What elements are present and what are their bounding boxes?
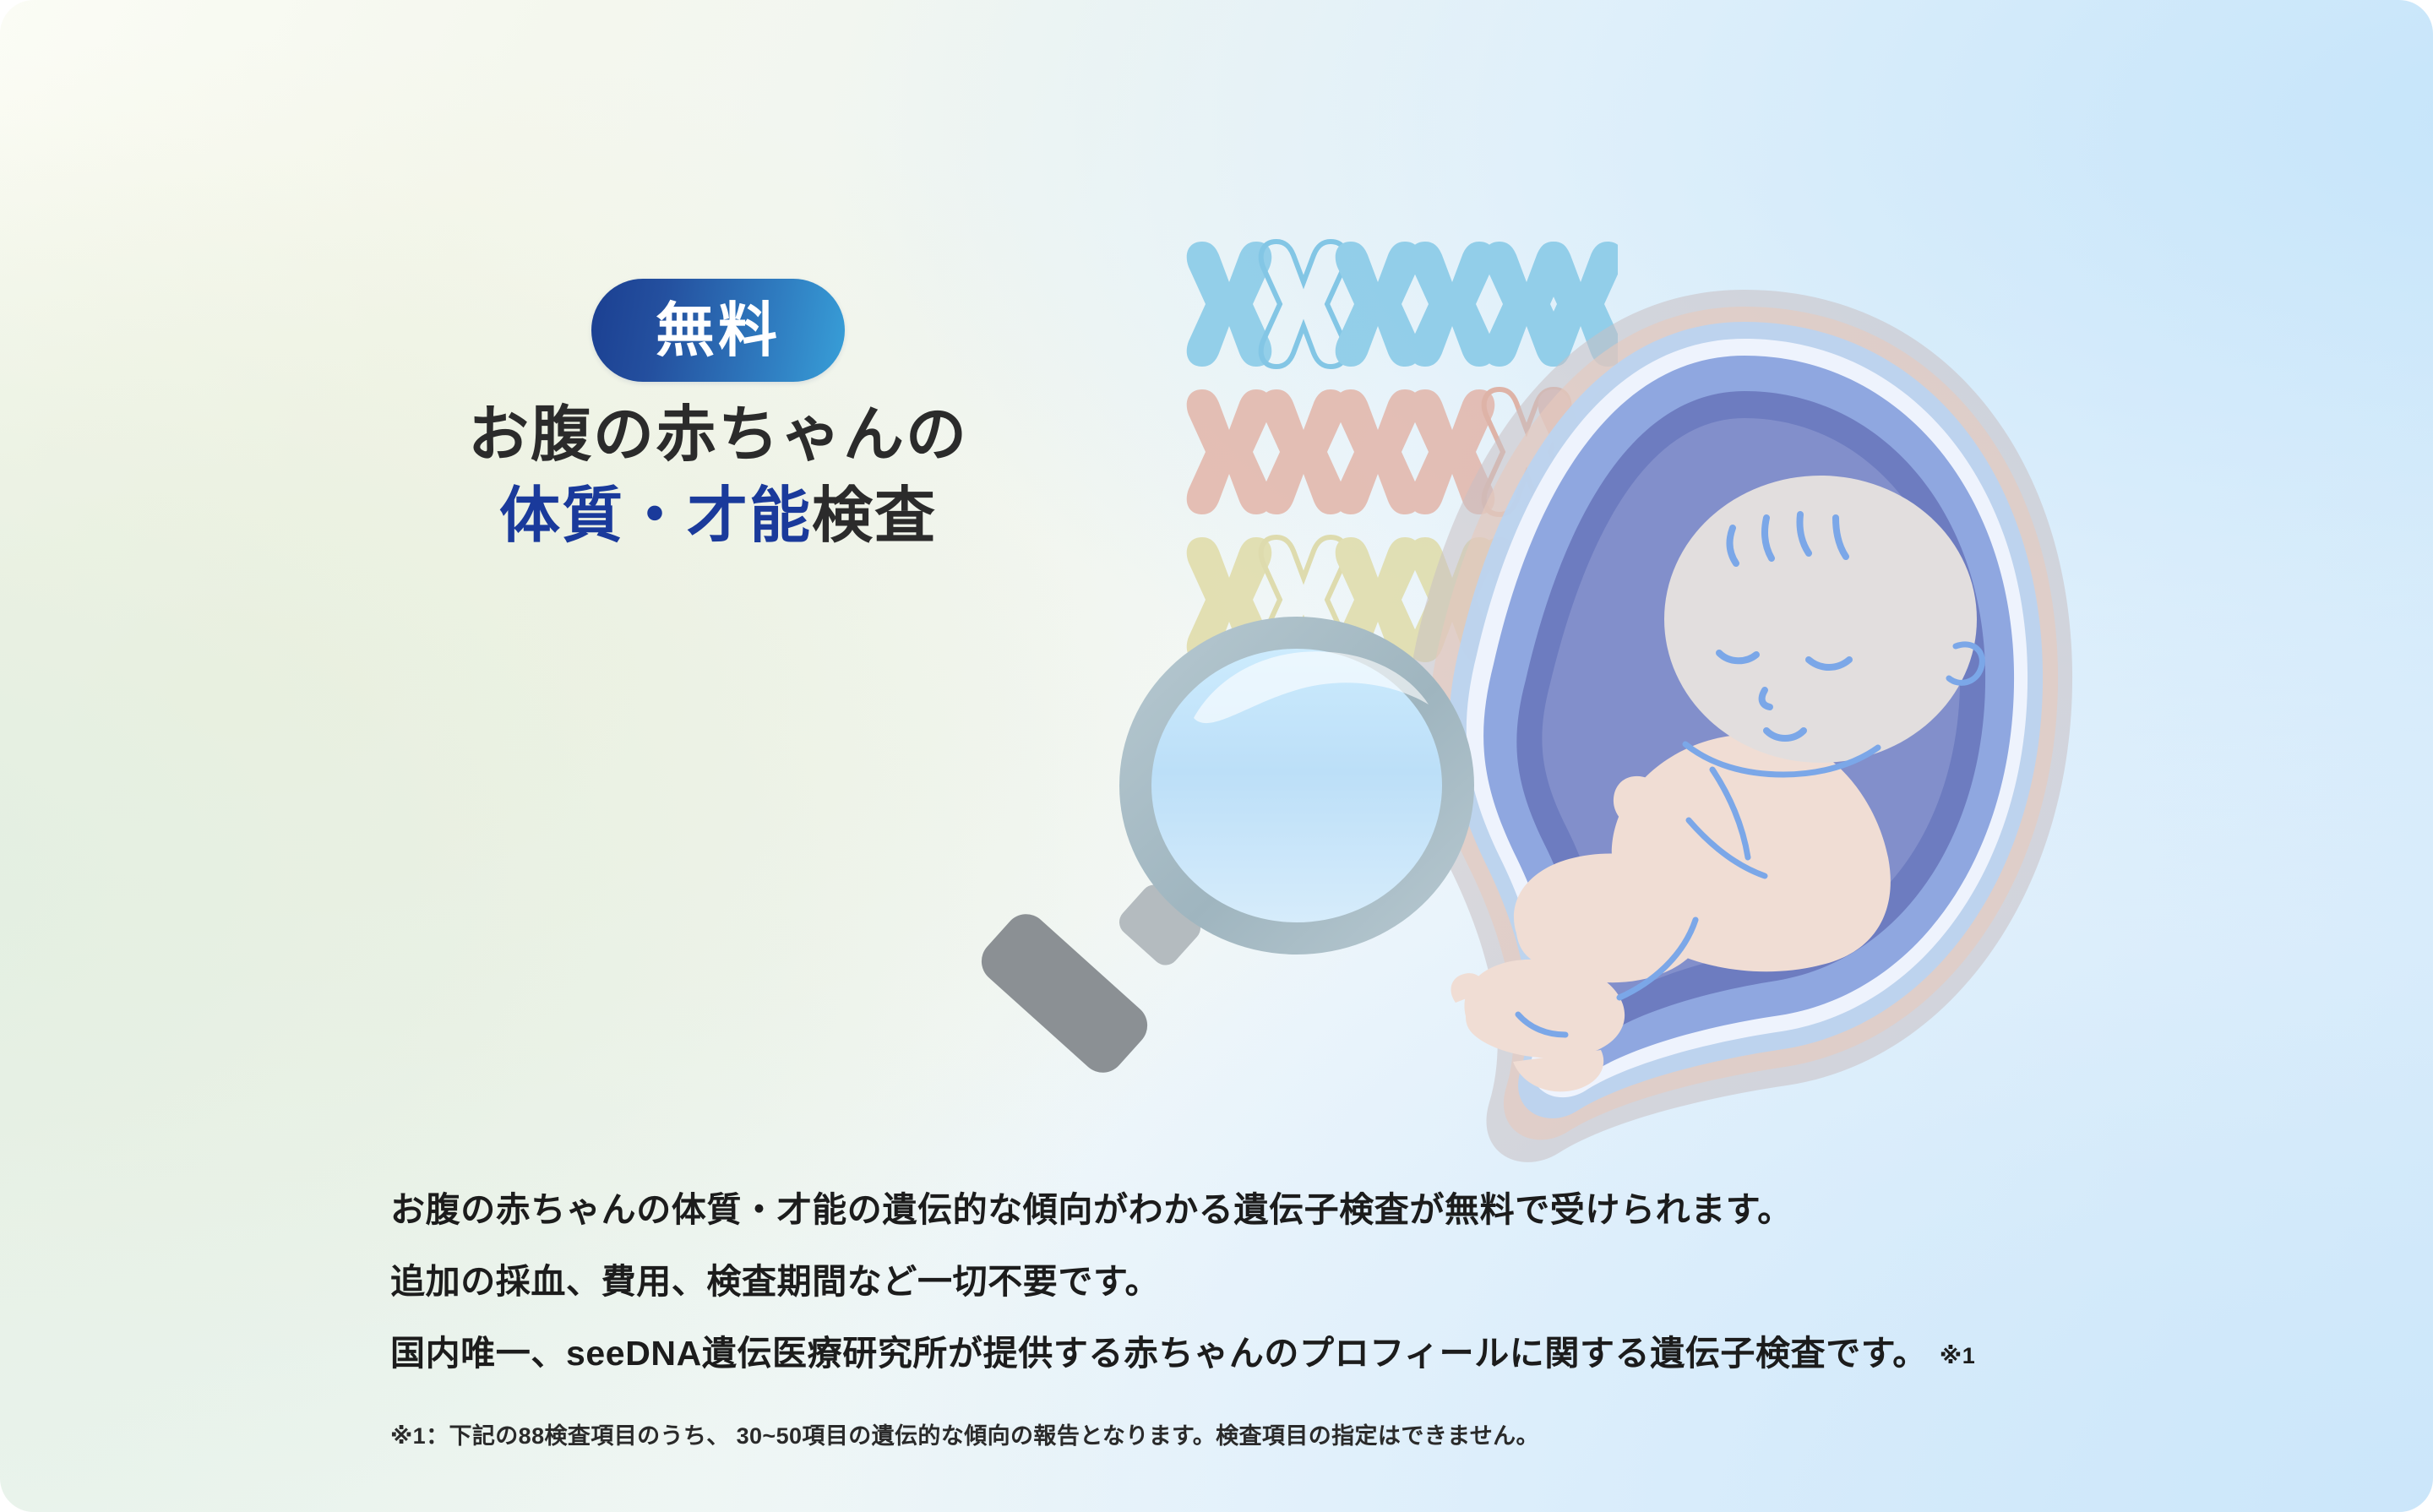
chromosome-grid-icon [1178, 238, 1618, 669]
description-line-1: お腹の赤ちゃんの体質・才能の遺伝的な傾向がわかる遺伝子検査が無料で受けられます。 [390, 1181, 2164, 1232]
page-title: お腹の赤ちゃんの 体質・才能検査 [338, 395, 1098, 557]
description-line-2: 追加の採血、費用、検査期間など一切不要です。 [390, 1253, 2164, 1303]
headline-rest: 検査 [812, 482, 937, 550]
description-block: お腹の赤ちゃんの体質・才能の遺伝的な傾向がわかる遺伝子検査が無料で受けられます。… [390, 1181, 2164, 1375]
headline-line-2: 体質・才能検査 [338, 476, 1098, 557]
headline-line-1: お腹の赤ちゃんの [338, 395, 1098, 476]
promo-hero-banner: 無料 お腹の赤ちゃんの 体質・才能検査 お腹の赤ちゃんの体質・才能の遺伝的な傾向… [0, 0, 2433, 1512]
free-badge: 無料 [591, 279, 845, 382]
footnote-reference-marker: ※1 [1940, 1343, 1975, 1368]
headline-accent: 体質・才能 [499, 482, 812, 550]
footnote-text: ※1：下記の88検査項目のうち、 30~50項目の遺伝的な傾向の報告となります。… [390, 1417, 1539, 1450]
description-line-3: 国内唯一、seeDNA遺伝医療研究所が提供する赤ちゃんのプロフィールに関する遺伝… [390, 1324, 2164, 1375]
magnifying-glass-icon [959, 591, 1550, 1107]
fetus-in-womb-icon [1347, 275, 2108, 1170]
description-line-3-text: 国内唯一、seeDNA遺伝医療研究所が提供する赤ちゃんのプロフィールに関する遺伝… [390, 1334, 1928, 1373]
free-badge-label: 無料 [656, 301, 781, 360]
